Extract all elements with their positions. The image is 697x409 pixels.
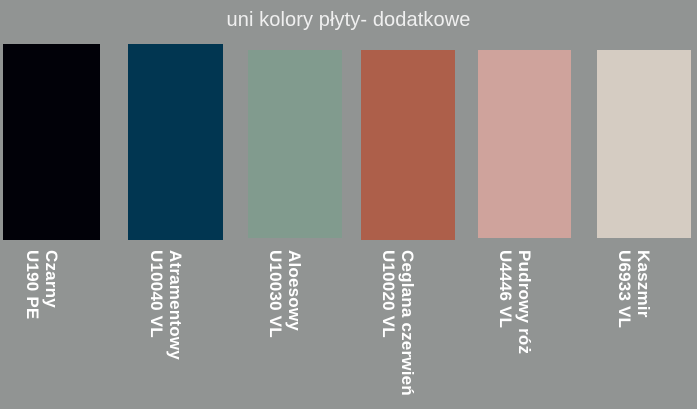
swatch-column[interactable]: CzarnyU190 PE bbox=[3, 0, 100, 409]
swatch-column[interactable]: Ceglana czerwieńU10020 VL bbox=[361, 0, 455, 409]
page-title: uni kolory płyty- dodatkowe bbox=[0, 8, 697, 32]
color-swatch[interactable] bbox=[478, 50, 571, 238]
swatch-code: U6933 VL bbox=[615, 250, 634, 328]
swatch-name: Pudrowy róż bbox=[515, 250, 534, 354]
swatch-code: U10030 VL bbox=[266, 250, 285, 338]
swatch-name: Kaszmir bbox=[634, 250, 653, 318]
color-swatch[interactable] bbox=[3, 44, 100, 240]
color-swatch[interactable] bbox=[248, 50, 342, 238]
swatch-code: U4446 VL bbox=[496, 250, 515, 328]
swatch-name: Ceglana czerwień bbox=[398, 250, 417, 396]
swatch-column[interactable]: KaszmirU6933 VL bbox=[597, 0, 691, 409]
swatch-code: U190 PE bbox=[23, 250, 42, 319]
swatch-name: Aloesowy bbox=[285, 250, 304, 331]
swatch-code: U10040 VL bbox=[147, 250, 166, 338]
swatch-column[interactable]: Pudrowy różU4446 VL bbox=[478, 0, 571, 409]
color-swatch[interactable] bbox=[597, 50, 691, 238]
swatch-column[interactable]: AtramentowyU10040 VL bbox=[128, 0, 223, 409]
swatch-code: U10020 VL bbox=[379, 250, 398, 338]
swatch-name: Czarny bbox=[42, 250, 61, 308]
color-swatch[interactable] bbox=[361, 50, 455, 240]
swatch-name: Atramentowy bbox=[166, 250, 185, 360]
swatch-column[interactable]: AloesowyU10030 VL bbox=[248, 0, 342, 409]
color-swatch-board: uni kolory płyty- dodatkowe CzarnyU190 P… bbox=[0, 0, 697, 409]
color-swatch[interactable] bbox=[128, 44, 223, 240]
